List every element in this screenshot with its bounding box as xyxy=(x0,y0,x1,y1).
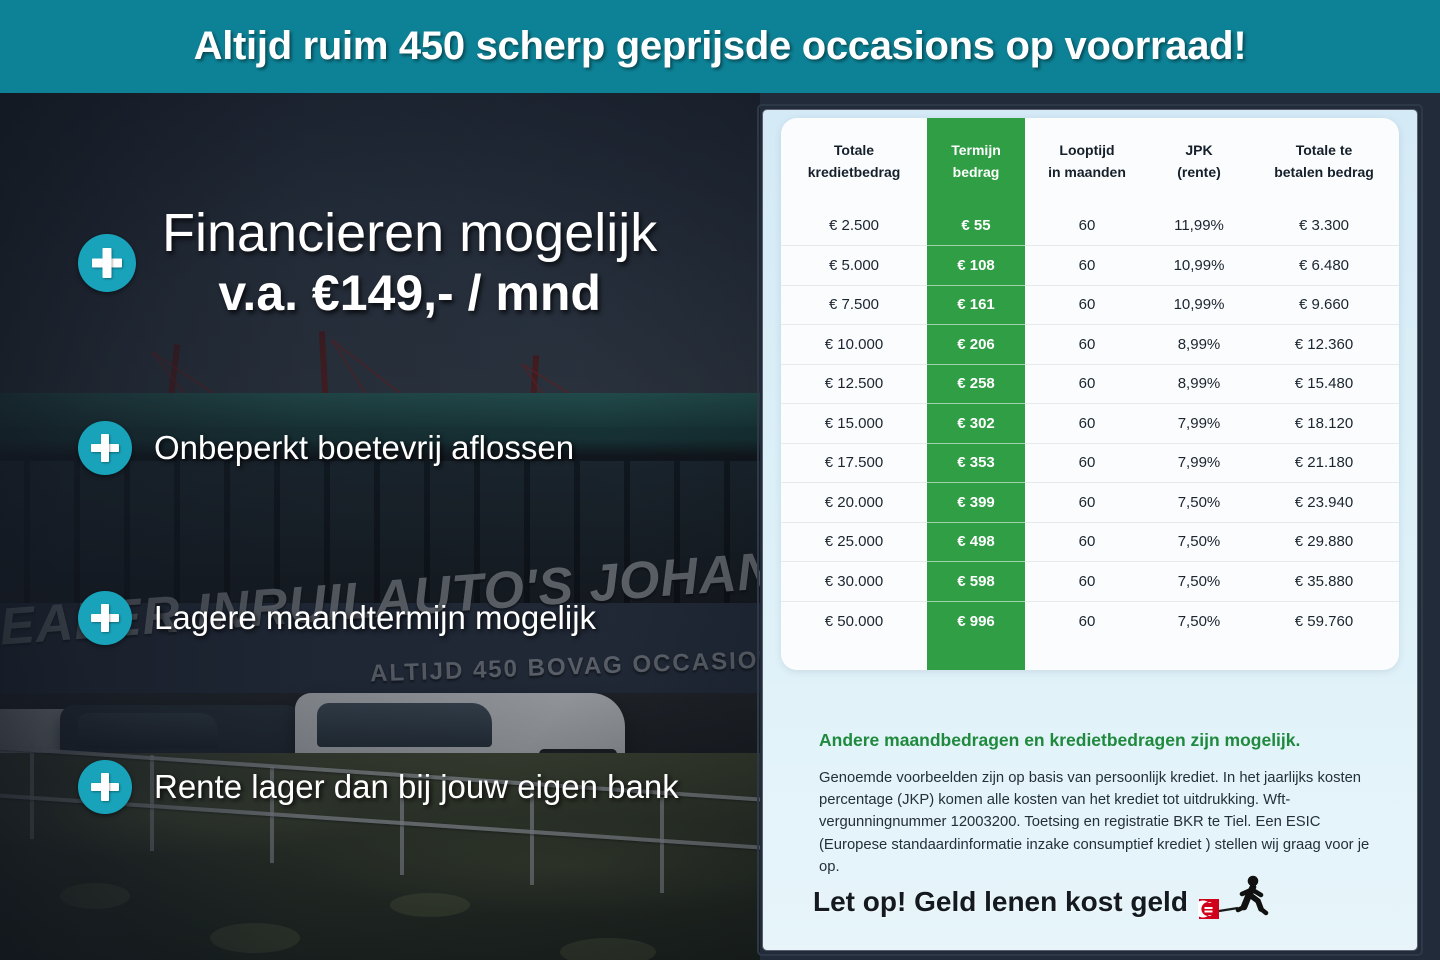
feature-item-3: Rente lager dan bij jouw eigen bank xyxy=(78,760,679,814)
cell-total-payable: € 12.360 xyxy=(1249,325,1399,365)
cell-apr: 11,99% xyxy=(1149,206,1249,246)
cell-term: 60 xyxy=(1025,206,1149,246)
cell-monthly-amount: € 258 xyxy=(927,364,1025,404)
cell-total-credit: € 25.000 xyxy=(781,522,927,562)
feature-label: Rente lager dan bij jouw eigen bank xyxy=(154,768,679,806)
cell-apr: 8,99% xyxy=(1149,364,1249,404)
column-header-total-credit: Totale kredietbedrag xyxy=(781,118,927,206)
cell-monthly-amount: € 55 xyxy=(927,206,1025,246)
cell-total-credit: € 2.500 xyxy=(781,206,927,246)
cell-term: 60 xyxy=(1025,404,1149,444)
table-row: € 30.000 € 598 60 7,50% € 35.880 xyxy=(781,562,1399,602)
credit-warning: Let op! Geld lenen kost geld xyxy=(813,875,1270,928)
disclaimer-heading: Andere maandbedragen en kredietbedragen … xyxy=(819,730,1379,751)
header-line-1: Termijn xyxy=(927,140,1025,162)
cell-term: 60 xyxy=(1025,325,1149,365)
cell-apr: 10,99% xyxy=(1149,285,1249,325)
headline-line-2: v.a. €149,- / mnd xyxy=(162,263,657,323)
cell-monthly-amount: € 498 xyxy=(927,522,1025,562)
table-row: € 10.000 € 206 60 8,99% € 12.360 xyxy=(781,325,1399,365)
column-header-monthly-amount: Termijn bedrag xyxy=(927,118,1025,206)
disclaimer-body: Genoemde voorbeelden zijn op basis van p… xyxy=(819,767,1379,878)
feature-item-2: Lagere maandtermijn mogelijk xyxy=(78,591,596,645)
table-row: € 17.500 € 353 60 7,99% € 21.180 xyxy=(781,443,1399,483)
cell-apr: 7,50% xyxy=(1149,601,1249,641)
cell-term: 60 xyxy=(1025,285,1149,325)
header-line-2: (rente) xyxy=(1149,162,1249,184)
cell-term: 60 xyxy=(1025,364,1149,404)
cell-total-credit: € 10.000 xyxy=(781,325,927,365)
header-line-2: betalen bedrag xyxy=(1249,162,1399,184)
disclaimer-block: Andere maandbedragen en kredietbedragen … xyxy=(819,730,1379,878)
cell-apr: 8,99% xyxy=(1149,325,1249,365)
credit-warning-text: Let op! Geld lenen kost geld xyxy=(813,886,1188,918)
cell-apr: 7,50% xyxy=(1149,522,1249,562)
cell-total-payable: € 18.120 xyxy=(1249,404,1399,444)
header-line-2: bedrag xyxy=(927,162,1025,184)
cell-total-payable: € 35.880 xyxy=(1249,562,1399,602)
cell-total-payable: € 29.880 xyxy=(1249,522,1399,562)
cell-apr: 10,99% xyxy=(1149,246,1249,286)
plus-icon xyxy=(78,421,132,475)
cell-monthly-amount: € 598 xyxy=(927,562,1025,602)
feature-list: Financieren mogelijk v.a. €149,- / mnd O… xyxy=(0,93,760,960)
table-row: € 25.000 € 498 60 7,50% € 29.880 xyxy=(781,522,1399,562)
table-row: € 20.000 € 399 60 7,50% € 23.940 xyxy=(781,483,1399,523)
cell-total-credit: € 17.500 xyxy=(781,443,927,483)
feature-item-1: Onbeperkt boetevrij aflossen xyxy=(78,421,574,475)
cell-total-payable: € 15.480 xyxy=(1249,364,1399,404)
dealership-photo-panel: DEALER INRUILAUTO'S JOHAN MEURE ALTIJD 4… xyxy=(0,93,760,960)
header-line-1: Looptijd xyxy=(1025,140,1149,162)
table-row: € 5.000 € 108 60 10,99% € 6.480 xyxy=(781,246,1399,286)
walking-person-dragging-euro-icon xyxy=(1198,875,1270,928)
cell-apr: 7,50% xyxy=(1149,562,1249,602)
cell-term: 60 xyxy=(1025,246,1149,286)
cell-total-credit: € 15.000 xyxy=(781,404,927,444)
plus-icon xyxy=(78,760,132,814)
cell-apr: 7,99% xyxy=(1149,404,1249,444)
cell-total-credit: € 12.500 xyxy=(781,364,927,404)
header-line-2: in maanden xyxy=(1025,162,1149,184)
table-header-row: Totale kredietbedrag Termijn bedrag Loop… xyxy=(781,118,1399,206)
cell-term: 60 xyxy=(1025,601,1149,641)
cell-total-payable: € 9.660 xyxy=(1249,285,1399,325)
table-row: € 15.000 € 302 60 7,99% € 18.120 xyxy=(781,404,1399,444)
table-row: € 2.500 € 55 60 11,99% € 3.300 xyxy=(781,206,1399,246)
financing-table: Totale kredietbedrag Termijn bedrag Loop… xyxy=(781,118,1399,641)
plus-icon xyxy=(78,591,132,645)
column-header-apr: JPK (rente) xyxy=(1149,118,1249,206)
cell-total-payable: € 23.940 xyxy=(1249,483,1399,523)
cell-total-payable: € 21.180 xyxy=(1249,443,1399,483)
table-body: € 2.500 € 55 60 11,99% € 3.300 € 5.000 €… xyxy=(781,206,1399,641)
cell-total-credit: € 5.000 xyxy=(781,246,927,286)
feature-label: Lagere maandtermijn mogelijk xyxy=(154,599,596,637)
cell-term: 60 xyxy=(1025,483,1149,523)
cell-monthly-amount: € 161 xyxy=(927,285,1025,325)
header-line-1: Totale xyxy=(781,140,927,162)
advertisement-banner: Altijd ruim 450 scherp geprijsde occasio… xyxy=(0,0,1440,960)
feature-label: Onbeperkt boetevrij aflossen xyxy=(154,429,574,467)
cell-total-credit: € 20.000 xyxy=(781,483,927,523)
column-header-total-payable: Totale te betalen bedrag xyxy=(1249,118,1399,206)
cell-apr: 7,99% xyxy=(1149,443,1249,483)
cell-total-credit: € 30.000 xyxy=(781,562,927,602)
table-row: € 7.500 € 161 60 10,99% € 9.660 xyxy=(781,285,1399,325)
headline-line-1: Financieren mogelijk xyxy=(162,203,657,263)
cell-total-payable: € 59.760 xyxy=(1249,601,1399,641)
cell-total-credit: € 7.500 xyxy=(781,285,927,325)
top-banner-text: Altijd ruim 450 scherp geprijsde occasio… xyxy=(194,24,1247,69)
cell-term: 60 xyxy=(1025,443,1149,483)
top-banner: Altijd ruim 450 scherp geprijsde occasio… xyxy=(0,0,1440,93)
cell-term: 60 xyxy=(1025,522,1149,562)
cell-monthly-amount: € 996 xyxy=(927,601,1025,641)
cell-total-payable: € 3.300 xyxy=(1249,206,1399,246)
cell-term: 60 xyxy=(1025,562,1149,602)
header-line-1: JPK xyxy=(1149,140,1249,162)
financing-table-card: Totale kredietbedrag Termijn bedrag Loop… xyxy=(781,118,1399,670)
cell-monthly-amount: € 353 xyxy=(927,443,1025,483)
cell-total-credit: € 50.000 xyxy=(781,601,927,641)
cell-monthly-amount: € 302 xyxy=(927,404,1025,444)
cell-monthly-amount: € 108 xyxy=(927,246,1025,286)
cell-total-payable: € 6.480 xyxy=(1249,246,1399,286)
table-row: € 12.500 € 258 60 8,99% € 15.480 xyxy=(781,364,1399,404)
cell-monthly-amount: € 206 xyxy=(927,325,1025,365)
table-row: € 50.000 € 996 60 7,50% € 59.760 xyxy=(781,601,1399,641)
headline-lines: Financieren mogelijk v.a. €149,- / mnd xyxy=(162,203,657,323)
header-line-2: kredietbedrag xyxy=(781,162,927,184)
header-line-1: Totale te xyxy=(1249,140,1399,162)
cell-monthly-amount: € 399 xyxy=(927,483,1025,523)
plus-icon xyxy=(78,234,136,292)
cell-apr: 7,50% xyxy=(1149,483,1249,523)
headline-block: Financieren mogelijk v.a. €149,- / mnd xyxy=(78,203,657,323)
column-header-term: Looptijd in maanden xyxy=(1025,118,1149,206)
financing-info-panel: Totale kredietbedrag Termijn bedrag Loop… xyxy=(763,110,1417,950)
